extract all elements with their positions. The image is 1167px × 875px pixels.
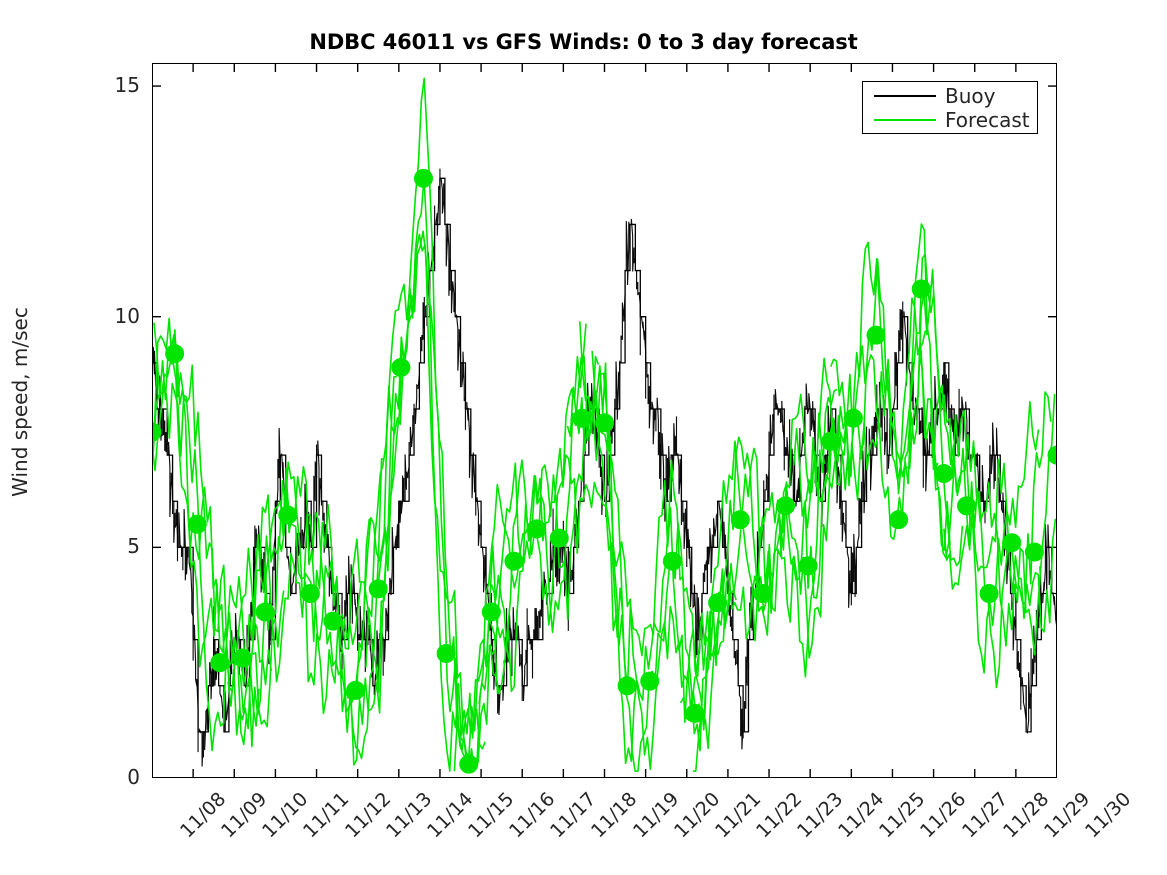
legend-swatch-forecast — [874, 119, 936, 121]
chart-figure: NDBC 46011 vs GFS Winds: 0 to 3 day fore… — [0, 0, 1167, 875]
legend-swatch-buoy — [874, 95, 936, 97]
legend-label-buoy: Buoy — [945, 83, 995, 109]
legend-row-buoy: Buoy — [863, 83, 1039, 109]
legend-label-forecast: Forecast — [945, 107, 1030, 133]
y-axis-label: Wind speed, m/sec — [8, 22, 32, 782]
chart-legend: Buoy Forecast — [862, 81, 1038, 134]
plot-area — [152, 63, 1057, 778]
legend-row-forecast: Forecast — [863, 107, 1039, 133]
plot-frame — [152, 63, 1057, 778]
